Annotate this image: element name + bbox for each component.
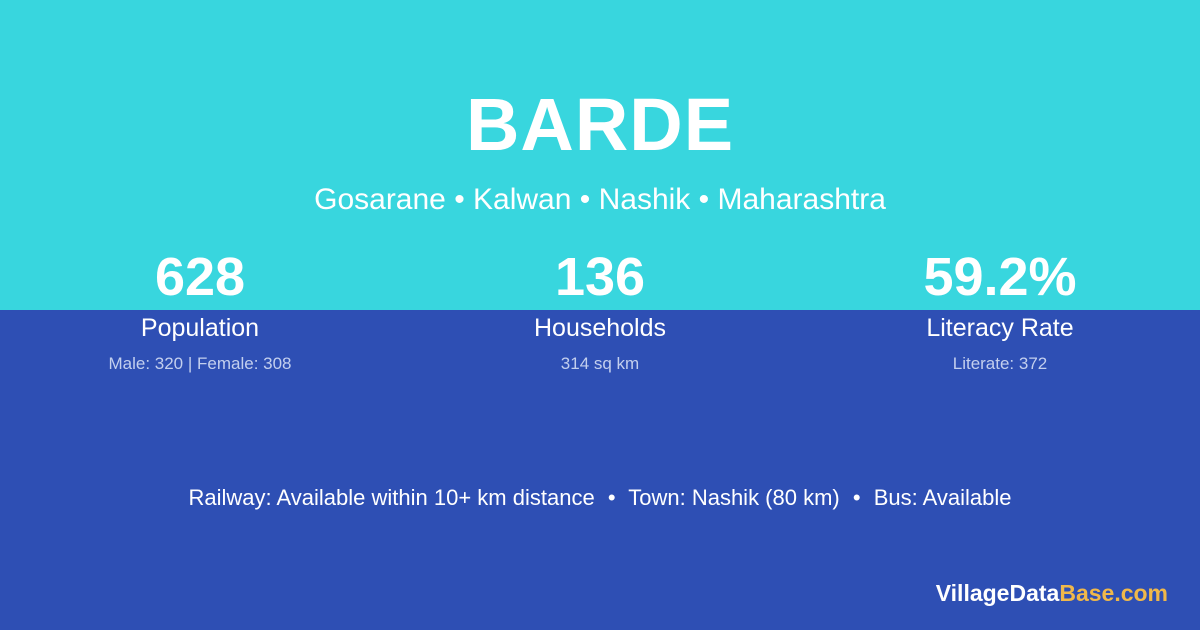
stat-population: 628 Population Male: 320 | Female: 308 [0, 245, 400, 376]
stat-households: 136 Households 314 sq km [400, 245, 800, 376]
facility-railway: Railway: Available within 10+ km distanc… [188, 485, 594, 510]
stat-label: Population [0, 311, 400, 345]
stat-value: 136 [400, 245, 800, 309]
brand-secondary: Base.com [1059, 580, 1168, 606]
facility-town: Town: Nashik (80 km) [628, 485, 840, 510]
stats-row: 628 Population Male: 320 | Female: 308 1… [0, 245, 1200, 376]
stat-sublabel: Literate: 372 [800, 352, 1200, 376]
facilities-line: Railway: Available within 10+ km distanc… [0, 482, 1200, 514]
stat-label: Literacy Rate [800, 311, 1200, 345]
stat-literacy-rate: 59.2% Literacy Rate Literate: 372 [800, 245, 1200, 376]
stat-label: Households [400, 311, 800, 345]
village-info-card: BARDE Gosarane • Kalwan • Nashik • Mahar… [0, 0, 1200, 630]
facility-separator-icon: • [846, 485, 868, 510]
facility-bus: Bus: Available [874, 485, 1012, 510]
page-title: BARDE [0, 82, 1200, 168]
stat-value: 628 [0, 245, 400, 309]
breadcrumb: Gosarane • Kalwan • Nashik • Maharashtra [0, 181, 1200, 219]
stat-sublabel: Male: 320 | Female: 308 [0, 352, 400, 376]
brand-primary: VillageData [936, 580, 1060, 606]
facility-separator-icon: • [601, 485, 623, 510]
stat-sublabel: 314 sq km [400, 352, 800, 376]
site-watermark: VillageDataBase.com [936, 578, 1168, 608]
stat-value: 59.2% [800, 245, 1200, 309]
